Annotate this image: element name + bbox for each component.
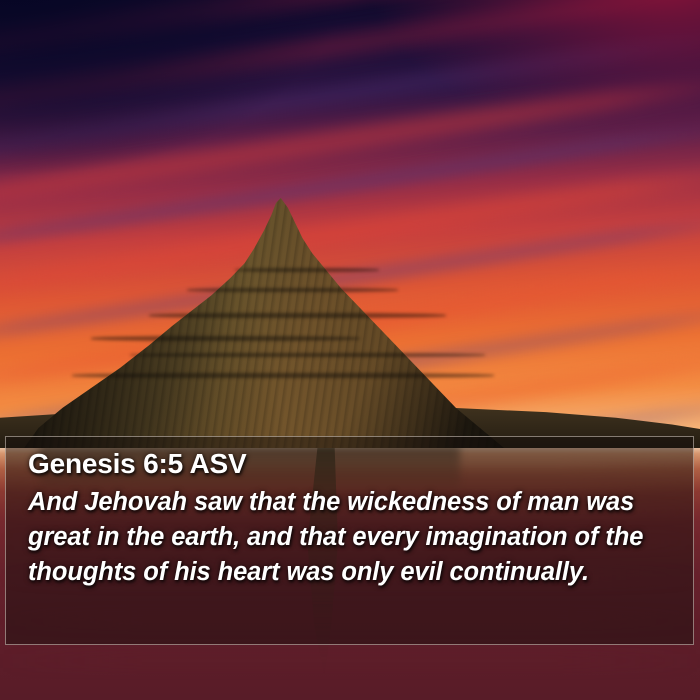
mountain-rock-band	[72, 373, 494, 378]
verse-caption-panel: Genesis 6:5 ASV And Jehovah saw that the…	[5, 436, 694, 645]
mountain-rock-band	[130, 353, 485, 357]
bible-verse-image: Genesis 6:5 ASV And Jehovah saw that the…	[0, 0, 700, 700]
mountain-rock-band	[149, 313, 447, 318]
mountain-texture	[24, 198, 504, 448]
mountain-rock-band	[187, 288, 398, 292]
verse-text: And Jehovah saw that the wickedness of m…	[28, 485, 673, 590]
mountain-rock-band	[91, 336, 360, 341]
water-streak	[0, 654, 700, 668]
mountain-rock-band	[235, 268, 379, 272]
mountain-icon	[24, 198, 504, 448]
verse-reference-title: Genesis 6:5 ASV	[28, 447, 673, 481]
